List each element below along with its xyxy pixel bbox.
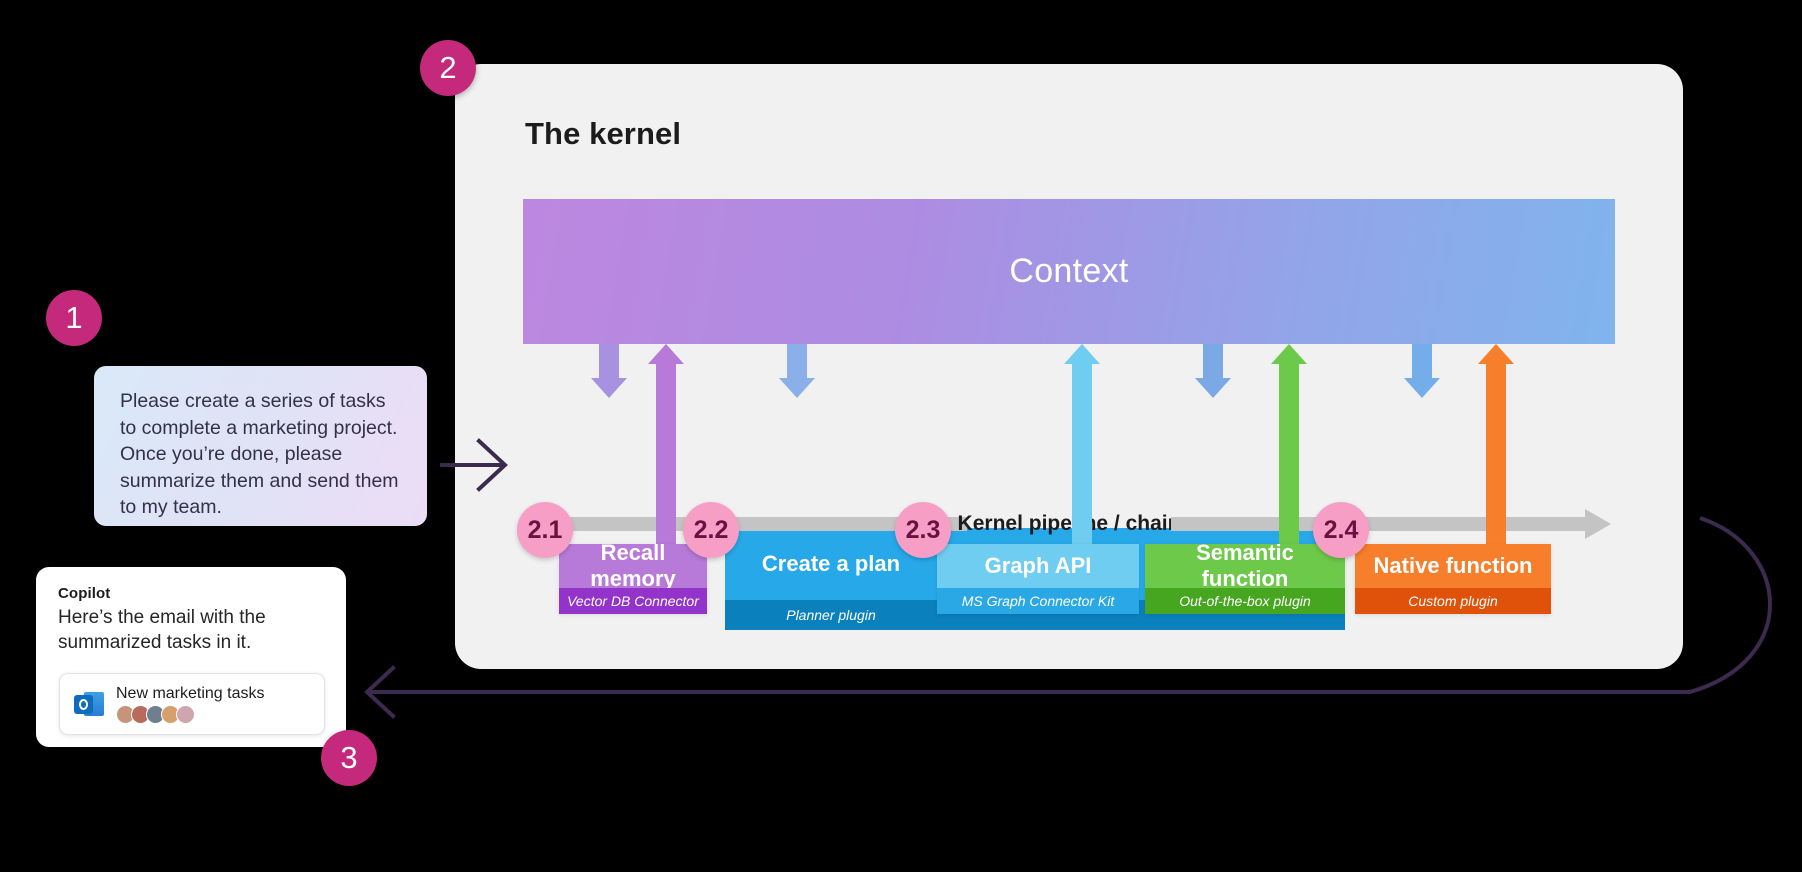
kernel-block-title: Recall memory (559, 544, 707, 588)
copilot-response-text: Here’s the email with the summarized tas… (58, 605, 324, 655)
kernel-block-subtitle: Vector DB Connector (559, 588, 707, 614)
kernel-block-subtitle: MS Graph Connector Kit (937, 588, 1139, 614)
kernel-block-recall-memory[interactable]: Recall memoryVector DB Connector (559, 544, 707, 614)
kernel-block-native-function[interactable]: Native functionCustom plugin (1355, 544, 1551, 614)
step-badge-2-2: 2.2 (683, 502, 739, 558)
kernel-block-subtitle: Custom plugin (1355, 588, 1551, 614)
email-attachment-chip[interactable]: New marketing tasks (59, 673, 325, 735)
kernel-block-semantic-function[interactable]: Semantic functionOut-of-the-box plugin (1145, 544, 1345, 614)
kernel-block-title: Graph API (937, 544, 1139, 588)
avatar (176, 705, 195, 724)
context-bar: Context (523, 199, 1615, 344)
outlook-icon (74, 689, 104, 719)
step-badge-2-1: 2.1 (517, 502, 573, 558)
step-badge-2: 2 (420, 40, 476, 96)
context-label: Context (1009, 252, 1128, 291)
step-badge-2-4: 2.4 (1313, 502, 1369, 558)
step-badge-1: 1 (46, 290, 102, 346)
kernel-block-subtitle: Out-of-the-box plugin (1145, 588, 1345, 614)
kernel-block-graph-api[interactable]: Graph APIMS Graph Connector Kit (937, 544, 1139, 614)
step-badge-3: 3 (321, 730, 377, 786)
kernel-block-title: Semantic function (1145, 544, 1345, 588)
kernel-panel: The kernel Context Recall memoryVector D… (455, 64, 1683, 669)
kernel-title: The kernel (525, 116, 681, 152)
attachment-title: New marketing tasks (116, 685, 265, 703)
user-prompt-bubble: Please create a series of tasks to compl… (94, 366, 427, 526)
attendee-avatars (116, 705, 265, 724)
kernel-block-subtitle: Planner plugin (725, 600, 937, 630)
copilot-label: Copilot (58, 585, 324, 602)
kernel-block-title: Native function (1355, 544, 1551, 588)
step-badge-2-3: 2.3 (895, 502, 951, 558)
user-prompt-text: Please create a series of tasks to compl… (120, 388, 401, 521)
